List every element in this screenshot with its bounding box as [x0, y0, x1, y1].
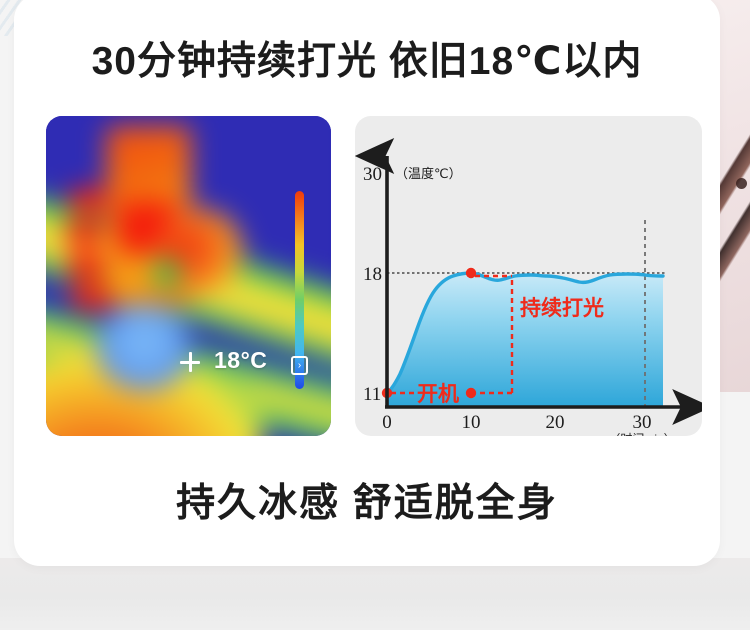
thermal-finger-2: [64, 220, 104, 246]
page-title: 30分钟持续打光 依旧18℃以内: [14, 30, 720, 86]
thermal-green-patch: [154, 258, 180, 288]
thermal-temperature-readout: 18°C: [214, 347, 267, 374]
page-subtitle: 持久冰感 舒适脱全身: [14, 472, 720, 528]
temperature-chart-panel: 30 18 11 （温度℃） 0 10 20 30 开机 持续打光 （时间min…: [355, 116, 702, 436]
thermal-cooled-spot: [96, 304, 192, 390]
x-axis-label: （时间min）: [608, 432, 675, 436]
y-axis-label: （温度℃）: [395, 166, 462, 181]
y-tick-label-18: 18: [363, 264, 382, 285]
temperature-chart-svg: 30 18 11 （温度℃） 0 10 20 30 开机 持续打光: [355, 116, 702, 436]
crosshair-icon: [180, 352, 200, 372]
background-bottom-band: [0, 558, 750, 630]
annotation-continuous-light: 持续打光: [520, 296, 604, 320]
data-point-18c: [466, 268, 476, 278]
thermal-finger-1: [68, 188, 106, 214]
thermal-scale-marker[interactable]: ›: [291, 356, 308, 375]
thermal-finger-3: [66, 252, 106, 280]
thermal-finger-4: [70, 284, 112, 310]
thermal-image-panel: [46, 116, 331, 436]
data-point-continuous-start: [466, 388, 476, 398]
background-photo-dot-icon: [736, 178, 747, 189]
y-tick-label-11: 11: [363, 384, 381, 405]
content-card: 30分钟持续打光 依旧18℃以内 18°C ›: [14, 0, 720, 566]
y-tick-label-30: 30: [363, 164, 382, 185]
annotation-power-on: 开机: [417, 382, 459, 406]
thermal-heatmap: [46, 116, 331, 436]
x-axis-label-svg: （时间min）: [355, 428, 702, 436]
